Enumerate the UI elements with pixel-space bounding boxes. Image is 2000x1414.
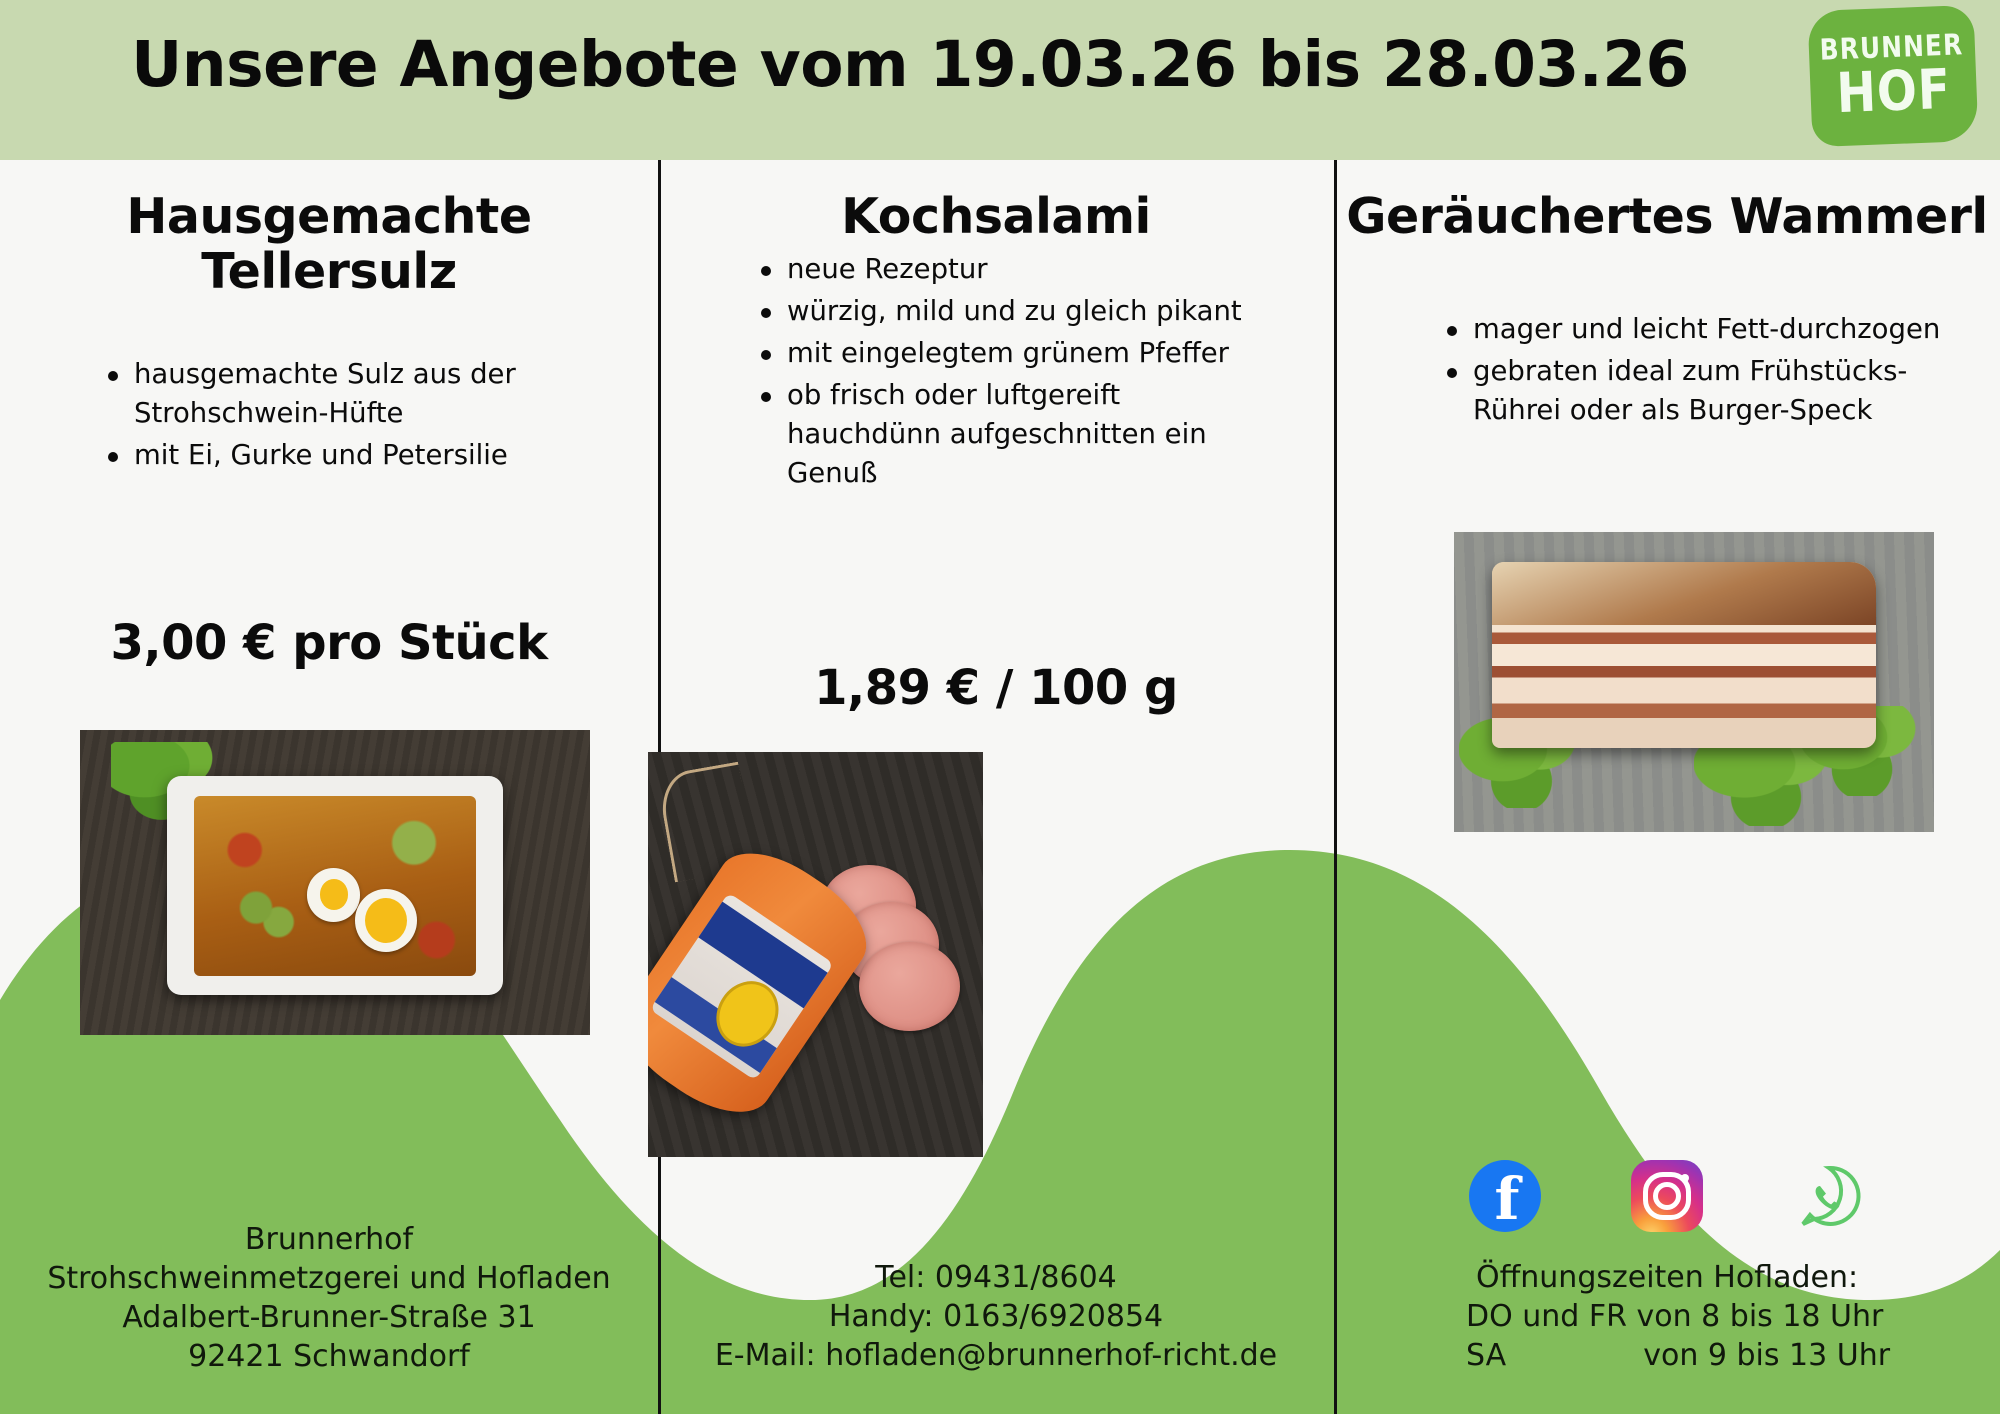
egg-slice (307, 868, 361, 922)
wammerl-photo (1454, 532, 1934, 832)
kochsalami-photo (648, 752, 983, 1157)
list-item: hausgemachte Sulz aus der Strohschwein-H… (100, 355, 570, 433)
offer-feature-list: neue Rezeptur würzig, mild und zu gleich… (753, 250, 1253, 496)
address-footer: Brunnerhof Strohschweinmetzgerei und Hof… (0, 1220, 658, 1376)
social-links: f (1334, 1160, 2000, 1232)
footer-line: Tel: 09431/8604 (658, 1258, 1334, 1297)
opening-hours-footer: Öffnungszeiten Hofladen: DO und FR von 8… (1334, 1258, 2000, 1375)
offer-feature-list: hausgemachte Sulz aus der Strohschwein-H… (100, 355, 570, 478)
footer-line: Handy: 0163/6920854 (658, 1297, 1334, 1336)
bacon-slab (1492, 562, 1876, 748)
list-item: neue Rezeptur (753, 250, 1253, 289)
footer-line: Brunnerhof (0, 1220, 658, 1259)
hours-days: SA (1466, 1338, 1506, 1373)
list-item: mit Ei, Gurke und Petersilie (100, 436, 570, 475)
whatsapp-icon[interactable] (1793, 1160, 1865, 1232)
list-item: mit eingelegtem grünem Pfeffer (753, 334, 1253, 373)
hours-heading: Öffnungszeiten Hofladen: (1334, 1258, 2000, 1297)
footer-line: 92421 Schwandorf (0, 1337, 658, 1376)
tellersulz-photo (80, 730, 590, 1035)
list-item: würzig, mild und zu gleich pikant (753, 292, 1253, 331)
offer-title: Hausgemachte Tellersulz (0, 190, 658, 300)
contact-footer: Tel: 09431/8604 Handy: 0163/6920854 E-Ma… (658, 1258, 1334, 1375)
logo-bottom-text: HOF (1835, 62, 1951, 121)
page-title: Unsere Angebote vom 19.03.26 bis 28.03.2… (0, 28, 1820, 101)
offer-title: Geräuchertes Wammerl (1334, 190, 2000, 245)
offer-column-tellersulz: Hausgemachte Tellersulz hausgemachte Sul… (0, 160, 658, 1414)
offer-column-kochsalami: Kochsalami neue Rezeptur würzig, mild un… (658, 160, 1334, 1414)
offer-column-wammerl: Geräuchertes Wammerl mager und leicht Fe… (1334, 160, 2000, 1414)
footer-line: Adalbert-Brunner-Straße 31 (0, 1298, 658, 1337)
hours-time: von 9 bis 13 Uhr (1643, 1338, 1890, 1373)
hours-row: SA von 9 bis 13 Uhr (1334, 1336, 2000, 1375)
facebook-icon[interactable]: f (1469, 1160, 1541, 1232)
offer-feature-list: mager und leicht Fett-durchzogen gebrate… (1439, 310, 1959, 433)
offer-price: 1,89 € / 100 g (658, 660, 1334, 716)
footer-line: E-Mail: hofladen@brunnerhof-richt.de (658, 1336, 1334, 1375)
hours-time: von 8 bis 18 Uhr (1637, 1299, 1884, 1334)
instagram-icon[interactable] (1631, 1160, 1703, 1232)
promo-poster: Unsere Angebote vom 19.03.26 bis 28.03.2… (0, 0, 2000, 1414)
hours-days: DO und FR (1466, 1299, 1627, 1334)
egg-slice (355, 889, 417, 952)
salami-slice (859, 942, 960, 1031)
list-item: ob frisch oder luftgereift hauchdünn auf… (753, 376, 1253, 493)
offer-title: Kochsalami (658, 190, 1334, 245)
offer-price: 3,00 € pro Stück (0, 615, 658, 671)
brunnerhof-logo: BRUNNER HOF (1807, 5, 1978, 147)
footer-line: Strohschweinmetzgerei und Hofladen (0, 1259, 658, 1298)
list-item: mager und leicht Fett-durchzogen (1439, 310, 1959, 349)
hours-row: DO und FR von 8 bis 18 Uhr (1334, 1297, 2000, 1336)
list-item: gebraten ideal zum Frühstücks-Rührei ode… (1439, 352, 1959, 430)
